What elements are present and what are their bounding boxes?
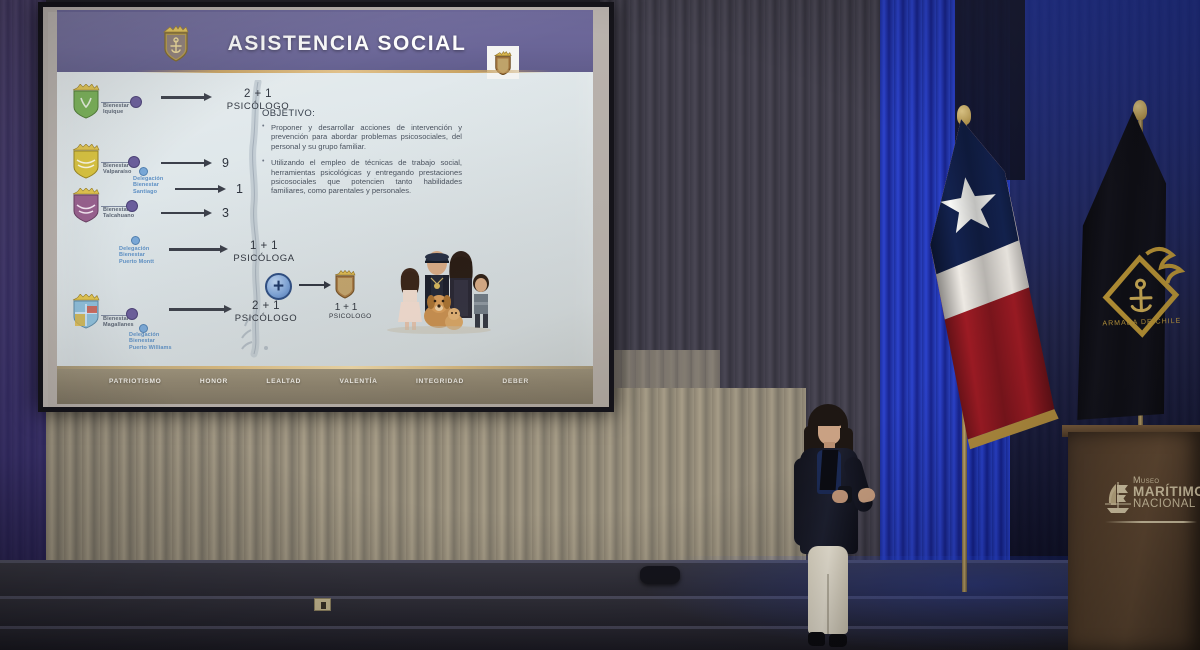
slide-header: ASISTENCIA SOCIAL bbox=[57, 10, 593, 72]
node-label-puerto-montt: DelegaciónBienestarPuerto Montt bbox=[119, 246, 163, 265]
shield-bienestar-talcahuano bbox=[71, 188, 101, 224]
allocation-count-talcahuano: 3 bbox=[222, 206, 229, 220]
presenter-left-hand bbox=[832, 490, 848, 503]
shield-bienestar-iquique bbox=[71, 84, 101, 120]
arrow-right-icon bbox=[161, 96, 205, 99]
podium-logo-line3: NACIONAL bbox=[1133, 498, 1200, 510]
value-item: INTEGRIDAD bbox=[416, 378, 464, 385]
allocation-arrow-valparaiso: 9 bbox=[161, 156, 229, 170]
composite-role: PSICOLOGO bbox=[329, 313, 363, 320]
node-label-santiago: DelegaciónBienestarSantiago bbox=[133, 176, 173, 195]
node-dot-santiago[interactable] bbox=[139, 167, 148, 176]
podium bbox=[1068, 432, 1200, 650]
node-dot-valparaiso[interactable] bbox=[128, 156, 140, 168]
allocation-puerto-montt: 1 + 1 PSICÓLOGA bbox=[229, 240, 299, 264]
podium-logo-line2: MARÍTIMO bbox=[1133, 484, 1200, 499]
presentation-room-scene: ASISTENCIA SOCIAL bbox=[0, 0, 1200, 650]
presenter-figure bbox=[780, 404, 876, 650]
arrow-right-icon bbox=[169, 248, 221, 251]
slide-title: ASISTENCIA SOCIAL bbox=[227, 32, 467, 56]
presenter-left-arm bbox=[794, 458, 811, 546]
node-dot-iquique[interactable] bbox=[130, 96, 142, 108]
naval-family-illustration-icon bbox=[375, 250, 503, 334]
podium-logo-text: Museo MARÍTIMO NACIONAL bbox=[1133, 475, 1200, 510]
allocation-arrow-iquique bbox=[161, 96, 205, 99]
presenter-right-hand bbox=[857, 486, 877, 503]
presenter-right-shoe bbox=[829, 634, 847, 647]
node-label-puerto-williams: DelegaciónBienestarPuerto Williams bbox=[129, 332, 175, 351]
value-item: LEALTAD bbox=[266, 378, 301, 385]
allocation-arrow-santiago: 1 bbox=[175, 182, 243, 196]
svg-text:ARMADA DE CHILE: ARMADA DE CHILE bbox=[1102, 318, 1181, 328]
composite-caption: 1 + 1 PSICOLOGO bbox=[329, 302, 363, 320]
floor-equipment-icon bbox=[640, 566, 680, 584]
node-dot-talcahuano[interactable] bbox=[126, 200, 138, 212]
objective-bullet: Utilizando el empleo de técnicas de trab… bbox=[262, 158, 462, 196]
allocation-count-puerto-montt: 1 + 1 bbox=[229, 240, 299, 252]
value-item: VALENTÍA bbox=[339, 378, 377, 385]
shield-bienestar-magallanes bbox=[71, 294, 101, 330]
arrow-right-icon bbox=[299, 284, 325, 286]
arrow-right-icon bbox=[161, 162, 205, 165]
arrow-right-icon bbox=[175, 188, 219, 191]
objective-title: OBJETIVO: bbox=[262, 108, 462, 119]
projection-screen-frame: ASISTENCIA SOCIAL bbox=[38, 2, 614, 412]
slide-asistencia-social: ASISTENCIA SOCIAL bbox=[57, 10, 593, 404]
unit-crest-icon bbox=[333, 270, 357, 299]
slide-body: BienestarIquique BienestarValparaíso bbox=[57, 72, 593, 366]
composite-count: 1 + 1 bbox=[329, 302, 363, 313]
allocation-count-santiago: 1 bbox=[236, 182, 243, 196]
node-dot-magallanes[interactable] bbox=[126, 308, 138, 320]
arrow-right-icon bbox=[169, 308, 225, 311]
navy-flag-icon: ARMADA DE CHILE bbox=[1062, 108, 1200, 441]
presenter-hair-front bbox=[810, 410, 844, 426]
node-dot-puerto-montt[interactable] bbox=[131, 236, 140, 245]
value-item: HONOR bbox=[200, 378, 228, 385]
presenter-left-shoe bbox=[808, 632, 825, 646]
arrow-right-icon bbox=[161, 212, 205, 215]
navy-crowned-anchor-crest-icon bbox=[161, 23, 191, 63]
objective-bullet-list: Proponer y desarrollar acciones de inter… bbox=[262, 123, 462, 196]
value-item: PATRIOTISMO bbox=[109, 378, 162, 385]
presenter-lapel bbox=[820, 450, 839, 490]
objective-block: OBJETIVO: Proponer y desarrollar accione… bbox=[262, 108, 462, 203]
wall-outlet-icon bbox=[314, 598, 331, 611]
allocation-arrow-magallanes bbox=[169, 308, 225, 311]
value-item: DEBER bbox=[502, 378, 529, 385]
podium-logo: Museo MARÍTIMO NACIONAL bbox=[1105, 475, 1197, 527]
allocation-arrow-puerto-montt bbox=[169, 248, 221, 251]
values-footer-bar: PATRIOTISMO HONOR LEALTAD VALENTÍA INTEG… bbox=[57, 366, 593, 404]
allocation-count-iquique: 2 + 1 bbox=[225, 88, 291, 100]
podium-logo-rule bbox=[1105, 521, 1197, 523]
composite-row: + 1 + 1 PSICOLOGO bbox=[257, 268, 557, 354]
values-list: PATRIOTISMO HONOR LEALTAD VALENTÍA INTEG… bbox=[109, 378, 529, 385]
projection-screen-surface: ASISTENCIA SOCIAL bbox=[43, 7, 609, 407]
allocation-role-puerto-montt: PSICÓLOGA bbox=[229, 253, 299, 264]
allocation-arrow-talcahuano: 3 bbox=[161, 206, 229, 220]
plus-circle-icon: + bbox=[265, 273, 292, 300]
tall-ship-icon bbox=[1105, 481, 1131, 515]
allocation-count-valparaiso: 9 bbox=[222, 156, 229, 170]
shield-bienestar-valparaiso bbox=[71, 144, 101, 180]
presenter-leg-split bbox=[827, 574, 829, 634]
curtain-beige-front bbox=[46, 388, 806, 578]
objective-bullet: Proponer y desarrollar acciones de inter… bbox=[262, 123, 462, 151]
